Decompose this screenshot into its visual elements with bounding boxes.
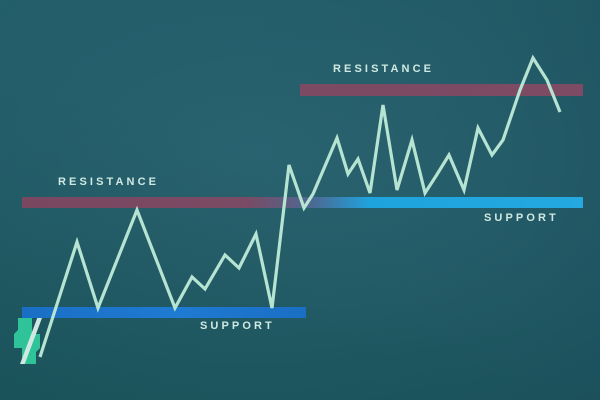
support-label-lower: SUPPORT (200, 320, 275, 332)
resistance-label-lower: RESISTANCE (58, 176, 159, 188)
chart-canvas: RESISTANCE SUPPORT RESISTANCE SUPPORT (0, 0, 600, 400)
support-band-lower (22, 307, 306, 318)
resistance-band-upper (300, 84, 583, 96)
stylized-s-logo (12, 318, 42, 364)
resistance-label-upper: RESISTANCE (333, 63, 434, 75)
support-resistance-line-chart (0, 0, 600, 400)
support-label-upper: SUPPORT (484, 212, 559, 224)
